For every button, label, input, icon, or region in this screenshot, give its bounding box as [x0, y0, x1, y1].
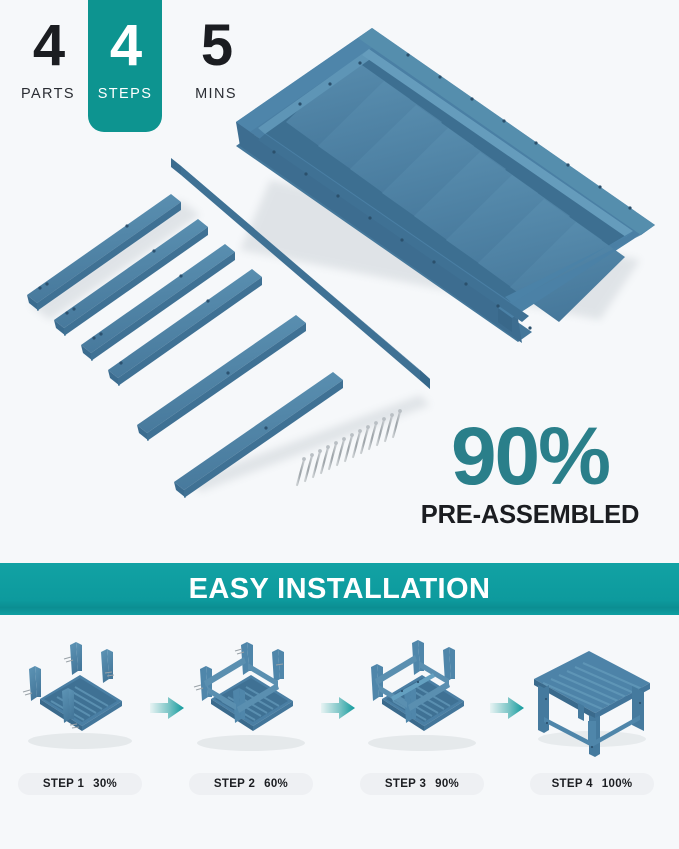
step-2-label: STEP 2	[214, 778, 255, 790]
installation-steps: STEP 1 30%	[0, 625, 679, 815]
step-3: STEP 3 90%	[346, 625, 498, 815]
pre-assembled-callout: 90% PRE-ASSEMBLED	[399, 415, 661, 530]
easy-installation-banner: EASY INSTALLATION	[0, 563, 679, 615]
step-2-illustration	[175, 625, 327, 765]
step-1-percent: 30%	[93, 778, 117, 790]
step-1-label: STEP 1	[43, 778, 84, 790]
step-3-illustration	[346, 625, 498, 765]
pre-assembled-caption: PRE-ASSEMBLED	[399, 501, 661, 530]
step-2: STEP 2 60%	[175, 625, 327, 815]
product-infographic: 4 PARTS 4 STEPS 5 MINS	[0, 0, 679, 849]
step-4-pill: STEP 4 100%	[530, 773, 654, 795]
step-arrow-3-icon	[488, 695, 526, 721]
step-1-illustration	[4, 625, 156, 765]
step-1: STEP 1 30%	[4, 625, 156, 815]
step-2-pill: STEP 2 60%	[189, 773, 313, 795]
pre-assembled-percent: 90%	[399, 415, 661, 499]
step-3-pill: STEP 3 90%	[360, 773, 484, 795]
step-4: STEP 4 100%	[516, 625, 668, 815]
step-arrow-2-icon	[319, 695, 357, 721]
step-2-percent: 60%	[264, 778, 288, 790]
easy-installation-title: EASY INSTALLATION	[189, 573, 491, 606]
step-3-label: STEP 3	[385, 778, 426, 790]
step-4-label: STEP 4	[552, 778, 593, 790]
step-4-illustration	[516, 625, 668, 765]
step-1-pill: STEP 1 30%	[18, 773, 142, 795]
step-arrow-1-icon	[148, 695, 186, 721]
step-4-percent: 100%	[602, 778, 633, 790]
step-3-percent: 90%	[435, 778, 459, 790]
